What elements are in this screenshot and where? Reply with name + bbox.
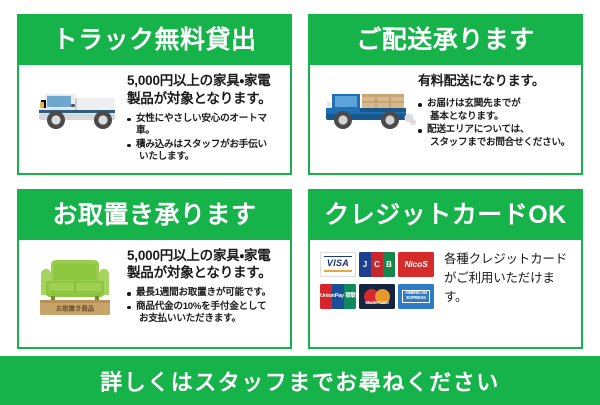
card-title-credit-card: クレジットカードOK [310, 191, 581, 240]
card-body-credit-card: VISA J C B NicoS Un [310, 240, 581, 348]
card-title-delivery: ご配送承ります [310, 16, 581, 65]
mastercard-logo-icon: MasterCard [359, 284, 395, 309]
nicos-wordmark: NicoS [404, 259, 427, 269]
amex-wordmark: AMERICAN EXPRESS [403, 291, 429, 301]
jcb-logo-icon: J C B [359, 252, 395, 277]
white-kei-truck-illustration [23, 72, 127, 136]
service-card-truck-rental: トラック無料貸出 [17, 14, 292, 175]
note-line: 最長1週間お取置きが可能です。 [136, 287, 271, 298]
card-notes-delivery: お届けは玄関先までが 基本となります。 配送エリアについては、 スタッフまでお問… [418, 98, 573, 149]
note-line: 女性にやさしい安心のオートマ車。 [136, 113, 267, 136]
card-notes-truck-rental: 女性にやさしい安心のオートマ車。 積み込みはスタッフがお手伝い いたします。 [127, 113, 282, 164]
service-card-grid: トラック無料貸出 [17, 14, 583, 349]
visa-bottom-bar [324, 270, 352, 272]
note-line-cont: 基本となります。 [427, 111, 573, 123]
list-item: 女性にやさしい安心のオートマ車。 [127, 113, 282, 138]
card-lead-delivery: 有料配送になります。 [418, 72, 573, 89]
list-item: 最長1週間お取置きが可能です。 [127, 287, 282, 299]
list-item: 商品代金の10%を手付金として お支払いいただきます。 [127, 301, 282, 326]
blue-delivery-truck-illustration [314, 72, 418, 136]
note-line: 積み込みはスタッフがお手伝い [136, 139, 267, 150]
footer-banner: 詳しくはスタッフまでお尋ねください [0, 356, 600, 405]
visa-logo-icon: VISA [320, 252, 356, 277]
jcb-letter-c: C [371, 252, 383, 277]
mastercard-wordmark: MasterCard [359, 300, 395, 305]
green-sofa-illustration: お取置き商品 [23, 247, 127, 319]
amex-logo-icon: AMERICAN EXPRESS [398, 284, 434, 309]
promo-poster: トラック無料貸出 [0, 0, 600, 405]
card-body-truck-rental: 5,000円以上の家具・家電製品が対象となります。 女性にやさしい安心のオートマ… [19, 65, 290, 173]
list-item: お届けは玄関先までが 基本となります。 [418, 98, 573, 123]
amex-frame: AMERICAN EXPRESS [402, 290, 430, 303]
card-copy-credit-card: 各種クレジットカードがご利用いただけます。 [438, 250, 573, 308]
card-body-layaway: お取置き商品 5,000円以上の家具・家電製品が対象となります。 最長1週間お取… [19, 240, 290, 348]
card-copy-layaway: 5,000円以上の家具・家電製品が対象となります。 最長1週間お取置きが可能です… [127, 247, 284, 327]
note-line-cont: スタッフまでお問合せください。 [427, 137, 573, 149]
unionpay-wordmark: UnionPay 银联 [320, 291, 356, 299]
card-lead-credit-card: 各種クレジットカードがご利用いただけます。 [444, 250, 573, 308]
card-lead-truck-rental: 5,000円以上の家具・家電製品が対象となります。 [127, 72, 282, 108]
list-item: 積み込みはスタッフがお手伝い いたします。 [127, 139, 282, 164]
card-lead-layaway: 5,000円以上の家具・家電製品が対象となります。 [127, 247, 282, 283]
service-card-delivery: ご配送承ります [308, 14, 583, 175]
card-title-layaway: お取置き承ります [19, 191, 290, 240]
jcb-letter-j: J [359, 252, 371, 277]
jcb-letter-b: B [383, 252, 395, 277]
credit-card-logo-grid: VISA J C B NicoS Un [320, 250, 438, 309]
visa-top-bar [324, 256, 352, 258]
card-body-delivery: 有料配送になります。 お届けは玄関先までが 基本となります。 配送エリアについて… [310, 65, 581, 173]
card-copy-truck-rental: 5,000円以上の家具・家電製品が対象となります。 女性にやさしい安心のオートマ… [127, 72, 284, 165]
nicos-logo-icon: NicoS [398, 252, 434, 277]
card-notes-layaway: 最長1週間お取置きが可能です。 商品代金の10%を手付金として お支払いいただき… [127, 287, 282, 325]
list-item: 配送エリアについては、 スタッフまでお問合せください。 [418, 124, 573, 149]
note-line: 配送エリアについては、 [427, 124, 529, 135]
unionpay-logo-icon: UnionPay 银联 [320, 284, 356, 309]
note-line-cont: お支払いいただきます。 [136, 313, 282, 325]
note-line: お届けは玄関先までが [427, 98, 520, 109]
note-line-cont: いたします。 [136, 151, 282, 163]
service-card-layaway: お取置き承ります お取置き商品 [17, 189, 292, 350]
footer-text: 詳しくはスタッフまでお尋ねください [100, 365, 500, 397]
card-title-truck-rental: トラック無料貸出 [19, 16, 290, 65]
note-line: 商品代金の10%を手付金として [136, 301, 266, 312]
card-copy-delivery: 有料配送になります。 お届けは玄関先までが 基本となります。 配送エリアについて… [418, 72, 575, 150]
svg-text:お取置き商品: お取置き商品 [56, 303, 95, 312]
service-card-credit-card: クレジットカードOK VISA J C B NicoS [308, 189, 583, 350]
visa-wordmark: VISA [327, 259, 349, 268]
